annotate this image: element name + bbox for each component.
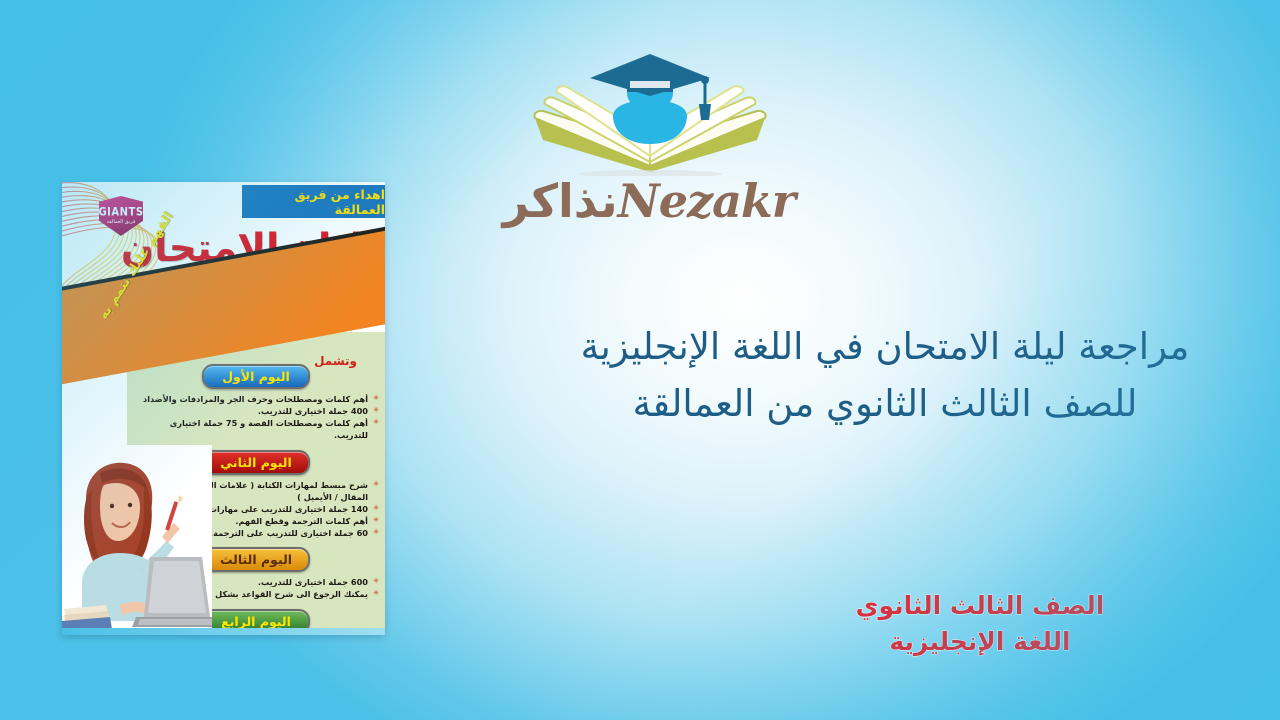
giants-logo-subtext: فريق العمالقة <box>107 220 136 225</box>
giants-logo-text: GIANTS <box>98 207 143 219</box>
page-title-line-2: للصف الثالث الثانوي من العمالقة <box>520 375 1250 432</box>
subject-label: اللغة الإنجليزية <box>700 624 1260 660</box>
page-title: مراجعة ليلة الامتحان في اللغة الإنجليزية… <box>520 318 1250 433</box>
day-badge-3: اليوم الثالث <box>202 547 310 572</box>
list-item: أهم كلمات ومصطلحات وحرف الجر والمرادفات … <box>133 393 379 405</box>
student-photo <box>62 445 212 635</box>
grade-label: الصف الثالث الثانوي <box>700 588 1260 624</box>
poster-canvas: Nezakrنذاكر مراجعة ليلة الامتحان في اللغ… <box>0 0 1280 720</box>
subject-grade-block: الصف الثالث الثانوي اللغة الإنجليزية <box>700 588 1260 661</box>
day-badge-2: اليوم الثاني <box>202 450 310 475</box>
gift-ribbon-text: اهداء من فريق العمالقة <box>242 187 385 217</box>
book-cover-image: GIANTS فريق العمالقة اهداء من فريق العما… <box>62 182 385 635</box>
logo-arabic-text: نذاكر <box>503 174 618 228</box>
includes-label: وتشمل <box>314 354 357 368</box>
page-title-line-1: مراجعة ليلة الامتحان في اللغة الإنجليزية <box>520 318 1250 375</box>
nezakr-logo: Nezakrنذاكر <box>505 48 795 234</box>
list-item: 400 جملة اختيارى للتدريب. <box>133 405 379 417</box>
graduation-cap-open-book-icon <box>505 48 795 176</box>
day-badge-1: اليوم الأول <box>202 364 310 389</box>
logo-latin-text: Nezakr <box>618 174 795 228</box>
logo-wordmark: Nezakrنذاكر <box>505 178 795 224</box>
book-bottom-strip <box>62 628 385 635</box>
gift-ribbon-banner: اهداء من فريق العمالقة <box>242 185 385 218</box>
day-1-list: أهم كلمات ومصطلحات وحرف الجر والمرادفات … <box>127 393 385 444</box>
list-item: أهم كلمات ومصطلحات القصة و 75 جملة اختيا… <box>133 417 379 441</box>
